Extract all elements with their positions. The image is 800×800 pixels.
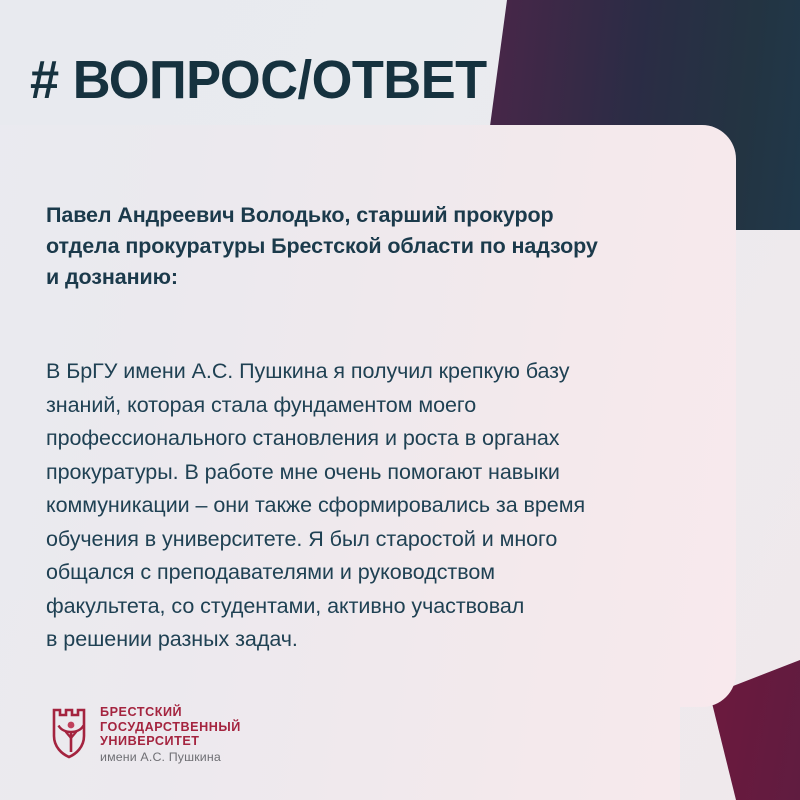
- university-logo-line-2: ГОСУДАРСТВЕННЫЙ: [100, 720, 241, 735]
- university-logo-text: БРЕСТСКИЙ ГОСУДАРСТВЕННЫЙ УНИВЕРСИТЕТ им…: [100, 704, 241, 765]
- quote-line: обучения в университете. Я был старостой…: [46, 523, 706, 557]
- speaker-attribution: Павел Андреевич Володько, старший прокур…: [46, 200, 706, 293]
- quote-line: коммуникации – они также сформировались …: [46, 489, 706, 523]
- university-logo: БРЕСТСКИЙ ГОСУДАРСТВЕННЫЙ УНИВЕРСИТЕТ им…: [52, 704, 241, 765]
- quote-line: профессионального становления и роста в …: [46, 422, 706, 456]
- speaker-attribution-line: Павел Андреевич Володько, старший прокур…: [46, 200, 706, 231]
- university-logo-line-3: УНИВЕРСИТЕТ: [100, 734, 241, 749]
- content-body: Павел Андреевич Володько, старший прокур…: [46, 200, 706, 657]
- page-title: # ВОПРОС/ОТВЕТ: [30, 52, 487, 108]
- poster-canvas: # ВОПРОС/ОТВЕТ Павел Андреевич Володько,…: [0, 0, 800, 800]
- quote-line: в решении разных задач.: [46, 623, 706, 657]
- quote-paragraph: В БрГУ имени А.С. Пушкина я получил креп…: [46, 293, 706, 657]
- brsu-shield-emblem-icon: [52, 704, 90, 760]
- university-logo-line-1: БРЕСТСКИЙ: [100, 705, 241, 720]
- quote-line: факультета, со студентами, активно участ…: [46, 590, 706, 624]
- university-logo-subtitle: имени А.С. Пушкина: [100, 749, 241, 766]
- quote-line: В БрГУ имени А.С. Пушкина я получил креп…: [46, 355, 706, 389]
- quote-line: знаний, которая стала фундаментом моего: [46, 389, 706, 423]
- quote-line: общался с преподавателями и руководством: [46, 556, 706, 590]
- speaker-attribution-line: отдела прокуратуры Брестской области по …: [46, 231, 706, 262]
- quote-line: прокуратуры. В работе мне очень помогают…: [46, 456, 706, 490]
- speaker-attribution-line: и дознанию:: [46, 262, 706, 293]
